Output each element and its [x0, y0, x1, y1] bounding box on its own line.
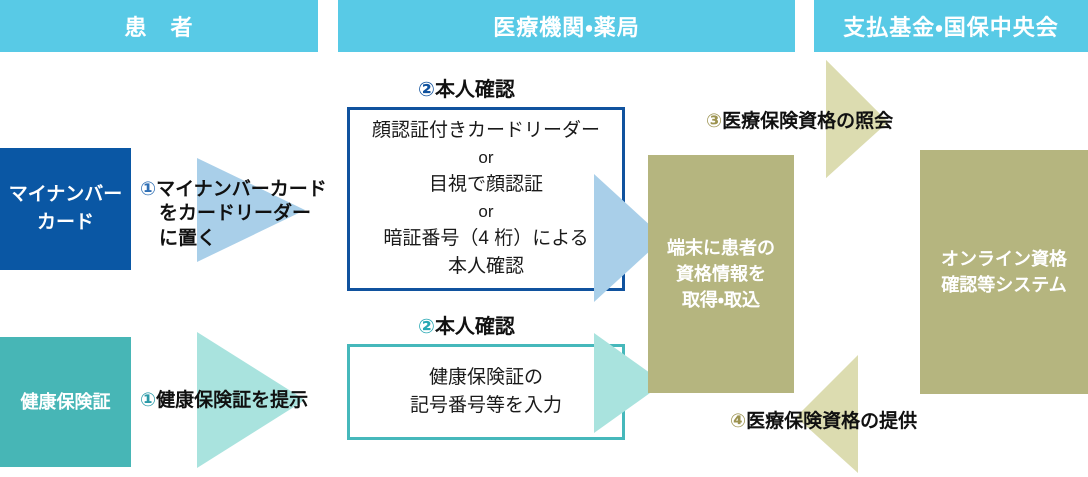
header-patient: 患 者 — [0, 0, 318, 52]
step3-text: 医療保険資格の照会 — [722, 111, 893, 132]
step2-insurance-text: 本人確認 — [435, 316, 515, 338]
mynumber-card-line2: カード — [9, 209, 123, 237]
system-line2: 確認等システム — [941, 272, 1067, 298]
step2-card-text: 本人確認 — [435, 79, 515, 101]
step1-card-line2: をカードリーダー — [140, 202, 327, 226]
auth-card-line5: 暗証番号（4 桁）による — [372, 225, 600, 254]
auth-card-or-2: or — [372, 199, 600, 225]
header-patient-label: 患 者 — [124, 10, 193, 42]
step1-insurance-number: ① — [140, 390, 156, 411]
health-insurance-card-line1: 健康保険証 — [21, 389, 111, 415]
authentication-methods-box: 顔認証付きカードリーダー or 目視で顔認証 or 暗証番号（4 桁）による 本… — [347, 107, 625, 291]
mynumber-card-line1: マイナンバー — [9, 181, 123, 209]
auth-insurance-line2: 記号番号等を入力 — [410, 392, 562, 421]
terminal-line1: 端末に患者の — [667, 235, 775, 261]
insurance-number-input-box: 健康保険証の 記号番号等を入力 — [347, 344, 625, 440]
step1-card-line3: に置く — [140, 227, 327, 251]
step2-insurance-number: ② — [418, 316, 435, 338]
step4-text: 医療保険資格の提供 — [746, 411, 917, 432]
step1-insurance-text: 健康保険証を提示 — [156, 390, 308, 411]
step4-number: ④ — [730, 411, 746, 432]
caption-step2-identity-verification-insurance: ②本人確認 — [418, 310, 515, 339]
auth-insurance-line1: 健康保険証の — [410, 364, 562, 393]
auth-card-or-1: or — [372, 145, 600, 171]
header-payment-fund: 支払基金・国保中央会 — [814, 0, 1088, 52]
health-insurance-card-box: 健康保険証 — [0, 337, 131, 467]
header-medical-label: 医療機関・薬局 — [493, 10, 639, 42]
auth-card-line1: 顔認証付きカードリーダー — [372, 117, 600, 146]
step1-card-line1: マイナンバーカード — [156, 179, 327, 200]
diagram-canvas: 患 者 医療機関・薬局 支払基金・国保中央会 マイナンバー カード 健康保険証 … — [0, 0, 1088, 477]
auth-card-line3: 目視で顔認証 — [372, 171, 600, 200]
caption-step1-health-insurance-card: ①健康保険証を提示 — [140, 385, 308, 412]
step2-card-number: ② — [418, 79, 435, 101]
caption-step4-qualification-provide: ④医療保険資格の提供 — [730, 406, 917, 433]
terminal-line3: 取得・取込 — [667, 287, 775, 313]
header-medical-institution: 医療機関・薬局 — [338, 0, 795, 52]
terminal-acquire-box: 端末に患者の 資格情報を 取得・取込 — [648, 155, 794, 393]
step1-card-number: ① — [140, 179, 156, 200]
mynumber-card-box: マイナンバー カード — [0, 148, 131, 270]
auth-card-line6: 本人確認 — [372, 253, 600, 282]
terminal-line2: 資格情報を — [667, 261, 775, 287]
header-fund-label: 支払基金・国保中央会 — [843, 10, 1058, 42]
online-qualification-system-box: オンライン資格 確認等システム — [920, 150, 1088, 394]
caption-step1-mynumber-card: ①マイナンバーカード をカードリーダー に置く — [140, 178, 327, 251]
step3-number: ③ — [706, 111, 722, 132]
caption-step3-qualification-query: ③医療保険資格の照会 — [706, 106, 893, 133]
system-line1: オンライン資格 — [941, 246, 1067, 272]
caption-step2-identity-verification-card: ②本人確認 — [418, 73, 515, 102]
